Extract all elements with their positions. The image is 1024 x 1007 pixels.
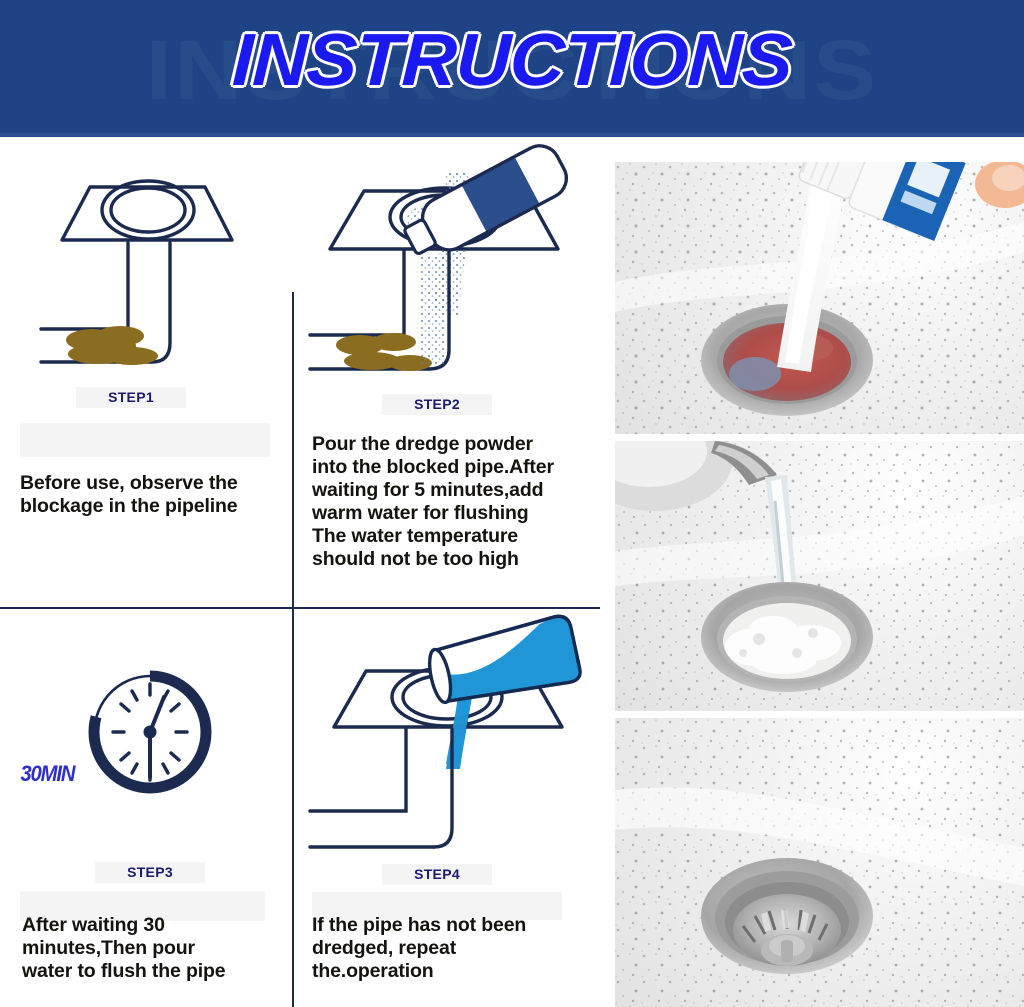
step1-illustration: [0, 137, 292, 407]
step2-caption-line4: warm water for flushing: [312, 502, 529, 526]
step2-caption-line2: into the blocked pipe.After: [312, 456, 554, 480]
step-cell-1: STEP1 Before use, observe the blockage i…: [0, 137, 292, 607]
step2-caption-line1: Pour the dredge powder: [312, 433, 533, 457]
photo2-content: [615, 441, 1024, 711]
step2-caption-line3: waiting for 5 minutes,add: [312, 479, 543, 503]
step-cell-2: STEP2 Pour the dredge powder into the bl…: [294, 137, 612, 607]
clock-face: [94, 676, 206, 788]
step4-caption-line3: the.operation: [312, 960, 434, 984]
clock-center-pin: [144, 726, 157, 739]
photo-pouring-water: [615, 441, 1024, 711]
step-cell-4: STEP4 If the pipe has not been dredged, …: [294, 609, 612, 1007]
blockage-grime: [66, 326, 158, 365]
step3-caption-line3: water to flush the pipe: [22, 960, 225, 984]
hand-finger: [975, 162, 1024, 208]
step1-caption-line1: Before use, observe the: [20, 472, 238, 496]
step1-caption-line2: blockage in the pipeline: [20, 495, 237, 519]
step3-caption-line2: minutes,Then pour: [22, 937, 195, 961]
step2-label: STEP2: [382, 394, 492, 415]
step1-ghost-band: [20, 423, 270, 457]
photo-clean-drain: [615, 718, 1024, 1007]
blockage-grime: [336, 333, 432, 371]
step4-caption-line1: If the pipe has not been: [312, 914, 526, 938]
step3-timer-label: 30MIN: [20, 761, 74, 787]
step2-caption-line6: should not be too high: [312, 548, 519, 572]
photo-pouring-powder: [615, 162, 1024, 434]
page-header: INSTRUCTIONS INSTRUCTIONS: [0, 0, 1024, 137]
photo-column: [615, 162, 1024, 1007]
step4-caption-line2: dredged, repeat: [312, 937, 456, 961]
step2-caption-line5: The water temperature: [312, 525, 518, 549]
step2-illustration: [294, 137, 612, 417]
steps-grid: STEP1 Before use, observe the blockage i…: [0, 137, 612, 1007]
step4-label: STEP4: [382, 864, 492, 885]
page-title: INSTRUCTIONS: [0, 14, 1024, 106]
step3-illustration: [0, 609, 292, 859]
step3-label: STEP3: [95, 862, 205, 883]
photo3-content: [615, 718, 1024, 1007]
step1-label: STEP1: [76, 387, 186, 408]
photo1-content: [615, 162, 1024, 434]
kettle: [615, 441, 777, 511]
step4-illustration: [294, 609, 612, 859]
step-cell-3: 30MIN STEP3 After waiting 30 minutes,The…: [0, 609, 292, 1007]
step3-caption-line1: After waiting 30: [22, 914, 165, 938]
